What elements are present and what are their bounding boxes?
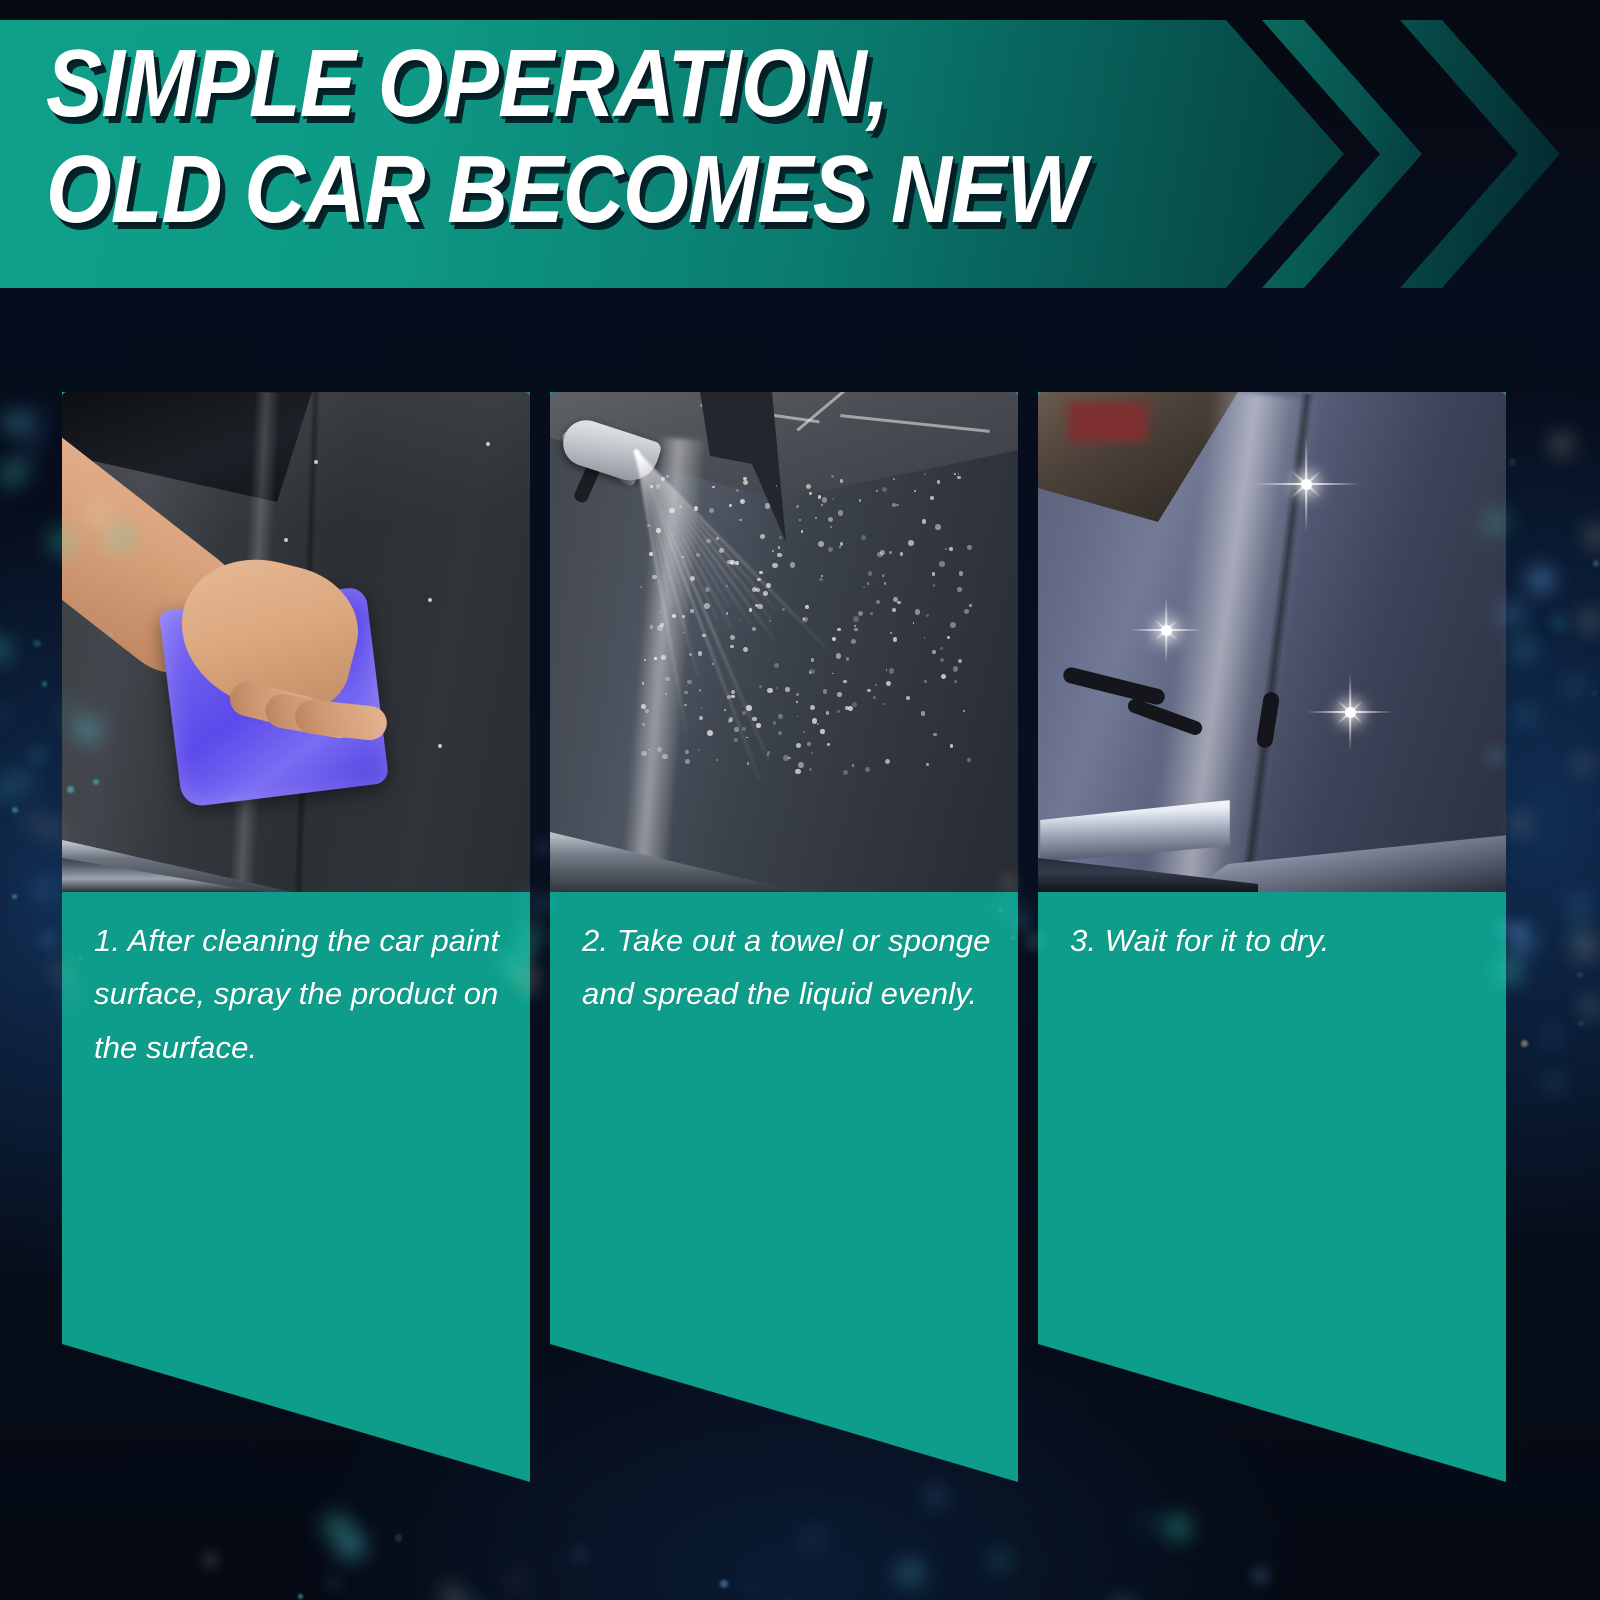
- spray-droplet: [685, 750, 689, 754]
- spray-droplet: [940, 647, 943, 650]
- spray-droplet: [699, 689, 702, 692]
- spray-droplet: [932, 572, 935, 575]
- bokeh-particle: [1509, 930, 1532, 953]
- spray-droplet: [876, 490, 878, 492]
- spray-droplet: [809, 669, 815, 675]
- spray-droplet: [837, 710, 840, 713]
- spray-droplet: [772, 550, 774, 552]
- bokeh-particle: [1570, 919, 1589, 938]
- spray-droplet: [852, 702, 857, 707]
- bokeh-particle: [1546, 1075, 1561, 1090]
- spray-droplet: [799, 519, 801, 521]
- bokeh-particle: [32, 750, 44, 762]
- spray-droplet: [774, 663, 779, 668]
- spray-droplet: [779, 536, 783, 540]
- bokeh-particle: [1565, 677, 1582, 694]
- spray-droplet: [805, 605, 809, 609]
- bokeh-particle: [1513, 641, 1539, 667]
- spray-droplet: [798, 762, 804, 768]
- spray-droplet: [712, 486, 715, 489]
- spray-droplet: [796, 701, 798, 703]
- sparkle-ray: [1307, 711, 1393, 713]
- sparkle-ray: [1165, 597, 1167, 663]
- bokeh-particle: [23, 810, 44, 831]
- background-red-blur: [1068, 402, 1148, 442]
- spray-droplet: [882, 575, 884, 577]
- spray-droplet: [795, 769, 800, 774]
- spray-droplet: [854, 628, 857, 631]
- bokeh-particle: [42, 681, 47, 686]
- spray-droplet: [739, 619, 741, 621]
- spray-droplet: [640, 586, 642, 588]
- spray-droplet: [803, 731, 805, 733]
- bokeh-particle: [1521, 1040, 1528, 1047]
- spray-droplet: [930, 496, 934, 500]
- bokeh-particle: [6, 455, 31, 480]
- step-2-caption: 2. Take out a towel or sponge and spread…: [582, 914, 992, 1021]
- spray-droplet: [958, 659, 963, 664]
- bokeh-particle: [23, 432, 40, 449]
- spray-droplet: [838, 510, 844, 516]
- spray-droplet: [684, 691, 688, 695]
- bokeh-particle: [1581, 997, 1600, 1019]
- spray-droplet: [845, 706, 849, 710]
- spray-droplet: [654, 657, 657, 660]
- spray-droplet: [924, 680, 927, 683]
- spray-droplet: [661, 655, 665, 659]
- step-3-caption: 3. Wait for it to dry.: [1070, 914, 1480, 967]
- sparkle-ray: [1337, 700, 1364, 725]
- spray-droplet: [885, 759, 891, 765]
- spray-droplet: [776, 687, 778, 689]
- spray-droplet: [892, 608, 896, 612]
- spray-droplet: [821, 575, 823, 577]
- spray-droplet: [821, 504, 823, 506]
- spray-droplet: [889, 551, 892, 554]
- spray-droplet: [890, 632, 892, 634]
- spray-droplet: [908, 540, 914, 546]
- spray-droplet: [747, 762, 750, 765]
- spray-droplet: [886, 681, 891, 686]
- spray-droplet: [896, 504, 898, 506]
- spray-droplet: [886, 669, 888, 671]
- spray-droplet: [935, 524, 940, 529]
- page-title-line-2: OLD CAR BECOMES NEW: [46, 142, 1084, 238]
- spray-droplet: [716, 759, 718, 761]
- spray-droplet: [950, 622, 956, 628]
- spray-droplet: [893, 637, 898, 642]
- spray-droplet: [883, 703, 885, 705]
- spray-droplet: [818, 541, 824, 547]
- spray-droplet: [734, 727, 738, 731]
- spray-droplet: [783, 755, 788, 760]
- spray-droplet: [796, 693, 799, 696]
- bokeh-particle: [1167, 1516, 1189, 1538]
- step-3-photo-shiny-hood: [1038, 392, 1506, 892]
- spray-droplet: [652, 575, 656, 579]
- spray-droplet: [957, 587, 962, 592]
- spray-droplet: [736, 489, 739, 492]
- bokeh-particle: [720, 1580, 727, 1587]
- spray-droplet: [801, 530, 804, 533]
- spray-droplet: [699, 716, 703, 720]
- spray-droplet: [915, 609, 920, 614]
- bokeh-particle: [329, 1578, 339, 1588]
- bokeh-particle: [12, 807, 18, 813]
- bokeh-particle: [1513, 923, 1525, 935]
- door-sill-chrome: [550, 806, 800, 892]
- bokeh-particle: [897, 1560, 924, 1587]
- bokeh-particle: [1544, 1029, 1560, 1045]
- spray-droplet: [641, 751, 646, 756]
- spray-droplet: [877, 552, 882, 557]
- spray-droplet: [743, 647, 748, 652]
- spray-droplet: [958, 473, 960, 475]
- spray-droplet: [767, 688, 772, 693]
- spray-droplet: [756, 723, 761, 728]
- spray-droplet: [949, 547, 953, 551]
- spray-droplet: [837, 692, 841, 696]
- sparkle-core: [1345, 707, 1356, 718]
- spray-droplet: [875, 684, 877, 686]
- spray-droplet: [939, 561, 945, 567]
- bokeh-particle: [1570, 896, 1589, 915]
- bokeh-particle: [1517, 707, 1535, 725]
- sparkle-ray: [1349, 673, 1351, 751]
- bokeh-particle: [0, 704, 6, 722]
- bokeh-particle: [298, 1594, 303, 1599]
- spray-droplet: [830, 526, 833, 529]
- spray-droplet: [906, 696, 910, 700]
- bokeh-particle: [749, 1585, 758, 1594]
- spray-droplet: [765, 503, 770, 508]
- bokeh-particle: [992, 1553, 1007, 1568]
- bokeh-particle: [1016, 918, 1028, 930]
- sparkle-ray: [1337, 700, 1364, 725]
- bokeh-particle: [1576, 757, 1591, 772]
- step-1-caption: 1. After cleaning the car paint surface,…: [94, 914, 504, 1074]
- spray-droplet: [832, 637, 836, 641]
- spray-droplet: [809, 768, 812, 771]
- bokeh-particle: [1513, 817, 1527, 831]
- spray-droplet: [868, 571, 873, 576]
- spray-droplet: [854, 625, 856, 627]
- sparkle-ray: [1154, 619, 1178, 641]
- spray-droplet: [926, 614, 929, 617]
- spray-droplet: [900, 552, 904, 556]
- spray-droplet: [817, 723, 819, 725]
- spray-droplet: [924, 473, 926, 475]
- spray-droplet: [828, 517, 833, 522]
- spray-droplet: [933, 733, 937, 737]
- bokeh-particle: [0, 469, 18, 488]
- bokeh-particle: [442, 1585, 460, 1600]
- spray-droplet: [724, 709, 726, 711]
- spray-droplet: [752, 627, 756, 631]
- spray-droplet: [940, 658, 944, 662]
- infographic-canvas: SIMPLE OPERATION, OLD CAR BECOMES NEW: [0, 0, 1600, 1600]
- bokeh-particle: [1529, 568, 1552, 591]
- spray-droplet: [873, 696, 877, 700]
- spray-droplet: [963, 710, 965, 712]
- chevron-right-icon-2: [1400, 20, 1560, 288]
- spray-droplet: [698, 749, 700, 751]
- spray-droplet: [882, 487, 887, 492]
- spray-droplet: [818, 495, 821, 498]
- spray-droplet: [773, 721, 777, 725]
- bokeh-particle: [1515, 639, 1529, 653]
- spray-droplet: [893, 478, 895, 480]
- spray-droplet: [967, 545, 972, 550]
- dust-speck: [486, 442, 490, 446]
- spray-droplet: [858, 611, 863, 616]
- spray-droplet: [832, 673, 834, 675]
- bokeh-particle: [395, 1534, 403, 1542]
- spray-droplet: [853, 616, 859, 622]
- windshield-wiper: [1062, 666, 1167, 707]
- spray-droplet: [846, 657, 850, 661]
- spray-droplet: [933, 584, 935, 586]
- spray-droplet: [778, 546, 781, 549]
- spray-droplet: [921, 711, 926, 716]
- spray-droplet: [836, 653, 841, 658]
- bokeh-particle: [5, 413, 24, 432]
- spray-droplet: [812, 718, 817, 723]
- page-title-line-1: SIMPLE OPERATION,: [46, 36, 1084, 132]
- spray-droplet: [865, 767, 870, 772]
- spray-droplet: [728, 719, 732, 723]
- spray-droplet: [954, 680, 957, 683]
- step-card-1: 1. After cleaning the car paint surface,…: [62, 392, 530, 1492]
- bokeh-particle: [24, 410, 43, 429]
- spray-droplet: [796, 743, 801, 748]
- spray-droplet: [778, 714, 783, 719]
- bokeh-particle: [0, 776, 16, 803]
- spray-droplet: [967, 758, 971, 762]
- spray-droplet: [698, 651, 702, 655]
- spray-droplet: [665, 677, 670, 682]
- bokeh-particle: [1509, 458, 1517, 466]
- bokeh-particle: [42, 933, 55, 946]
- spray-droplet: [810, 705, 815, 710]
- spray-droplet: [848, 706, 853, 711]
- bokeh-particle: [1577, 972, 1583, 978]
- spray-droplet: [843, 680, 847, 684]
- bokeh-particle: [802, 1527, 826, 1551]
- spray-droplet: [650, 625, 654, 629]
- spray-droplet: [739, 519, 742, 522]
- spray-droplet: [892, 503, 896, 507]
- bokeh-particle: [1586, 525, 1600, 548]
- spray-droplet: [782, 608, 785, 611]
- spray-droplet: [897, 601, 901, 605]
- spray-droplet: [712, 663, 714, 665]
- spray-droplet: [759, 685, 763, 689]
- spray-droplet: [731, 690, 735, 694]
- spray-droplet: [957, 476, 961, 480]
- bokeh-particle: [45, 823, 60, 838]
- spray-droplet: [937, 480, 941, 484]
- spray-droplet: [969, 604, 972, 607]
- spray-droplet: [811, 752, 813, 754]
- bokeh-particle: [12, 772, 30, 790]
- step-2-photo-spraying: [550, 392, 1018, 892]
- spray-droplet: [730, 635, 735, 640]
- spray-droplet: [840, 542, 843, 545]
- spray-droplet: [959, 571, 963, 575]
- spray-droplet: [778, 731, 782, 735]
- spray-droplet: [666, 475, 669, 478]
- spray-droplet: [687, 680, 692, 685]
- spray-droplet: [861, 535, 866, 540]
- spray-droplet: [685, 759, 690, 764]
- spray-droplet: [822, 497, 827, 502]
- spray-droplet: [954, 473, 956, 475]
- spray-droplet: [947, 636, 950, 639]
- spray-droplet: [926, 763, 929, 766]
- spray-droplet: [672, 614, 676, 618]
- bokeh-particle: [1254, 1569, 1267, 1582]
- bokeh-particle: [0, 640, 10, 660]
- spray-droplet: [876, 600, 880, 604]
- bokeh-particle: [1580, 996, 1600, 1017]
- spray-droplet: [686, 685, 688, 687]
- bokeh-particle: [1139, 1511, 1161, 1533]
- dust-speck: [284, 538, 288, 542]
- spray-droplet: [657, 747, 662, 752]
- spray-droplet: [867, 689, 871, 693]
- bokeh-particle: [33, 640, 40, 647]
- spray-droplet: [660, 623, 663, 626]
- spray-droplet: [742, 711, 746, 715]
- spray-droplet: [859, 499, 862, 502]
- bokeh-particle: [12, 894, 17, 899]
- spray-droplet: [740, 499, 745, 504]
- spray-droplet: [759, 571, 762, 574]
- spray-droplet: [913, 622, 915, 624]
- step-card-2: 2. Take out a towel or sponge and spread…: [550, 392, 1018, 1492]
- spray-droplet: [790, 562, 796, 568]
- spray-droplet: [746, 737, 748, 739]
- sparkle-ray: [1154, 619, 1178, 641]
- spray-droplet: [772, 563, 777, 568]
- spray-droplet: [797, 716, 799, 718]
- spray-droplet: [730, 645, 734, 649]
- spray-droplet: [832, 498, 834, 500]
- spray-droplet: [811, 658, 815, 662]
- spray-droplet: [820, 729, 825, 734]
- spray-droplet: [729, 504, 732, 507]
- spray-droplet: [837, 628, 840, 631]
- spray-droplet: [731, 695, 735, 699]
- spray-droplet: [831, 475, 833, 477]
- spray-droplet: [884, 582, 887, 585]
- page-title: SIMPLE OPERATION, OLD CAR BECOMES NEW: [46, 36, 1084, 238]
- spray-droplet: [815, 517, 817, 519]
- spray-droplet: [964, 609, 970, 615]
- spray-droplet: [642, 723, 645, 726]
- spray-droplet: [707, 730, 713, 736]
- sparkle-core: [1161, 625, 1172, 636]
- spray-droplet: [819, 578, 823, 582]
- bokeh-particle: [1593, 560, 1600, 567]
- spray-droplet: [743, 480, 748, 485]
- spray-droplet: [785, 687, 789, 691]
- bokeh-particle: [1582, 614, 1597, 629]
- spray-droplet: [843, 770, 848, 775]
- spray-droplet: [796, 505, 799, 508]
- spray-droplet: [826, 711, 830, 715]
- spray-droplet: [684, 704, 686, 706]
- bokeh-particle: [324, 1514, 350, 1540]
- step-1-photo-hand-wiping: [62, 392, 530, 892]
- spray-droplet: [945, 548, 948, 551]
- spray-droplet: [852, 764, 855, 767]
- spray-droplet: [932, 650, 936, 654]
- bokeh-particle: [38, 882, 52, 896]
- spray-droplet: [914, 490, 916, 492]
- spray-droplet: [645, 709, 649, 713]
- spray-droplet: [807, 742, 811, 746]
- bokeh-particle: [1554, 617, 1565, 628]
- spray-droplet: [734, 738, 738, 742]
- spray-droplet: [863, 586, 865, 588]
- spray-droplet: [924, 637, 926, 639]
- spray-droplet: [809, 492, 812, 495]
- dust-speck: [314, 460, 318, 464]
- spray-droplet: [839, 546, 841, 548]
- spray-droplet: [806, 484, 811, 489]
- bokeh-particle: [1573, 935, 1597, 959]
- spray-droplet: [828, 547, 833, 552]
- spray-droplet: [760, 534, 765, 539]
- bokeh-particle: [1578, 1021, 1583, 1026]
- spray-droplet: [701, 707, 703, 709]
- spray-droplet: [870, 612, 873, 615]
- spray-droplet: [690, 609, 694, 613]
- spray-droplet: [953, 666, 958, 671]
- spray-droplet: [827, 743, 831, 747]
- spray-droplet: [941, 674, 946, 679]
- spray-droplet: [851, 639, 856, 644]
- spray-droplet: [889, 668, 895, 674]
- step-card-3: 3. Wait for it to dry.: [1038, 392, 1506, 1492]
- spray-droplet: [662, 754, 668, 760]
- bokeh-particle: [575, 1549, 585, 1559]
- bokeh-particle: [1553, 436, 1570, 453]
- spray-droplet: [709, 508, 714, 513]
- bokeh-particle: [205, 1555, 216, 1566]
- spray-droplet: [950, 744, 954, 748]
- bokeh-particle: [1592, 691, 1597, 696]
- bokeh-particle: [338, 1532, 365, 1559]
- dust-speck: [438, 744, 442, 748]
- bokeh-particle: [507, 1572, 528, 1593]
- spray-droplet: [922, 519, 927, 524]
- spray-droplet: [823, 689, 828, 694]
- spray-droplet: [867, 582, 870, 585]
- bokeh-particle: [539, 843, 548, 852]
- dust-speck: [428, 598, 432, 602]
